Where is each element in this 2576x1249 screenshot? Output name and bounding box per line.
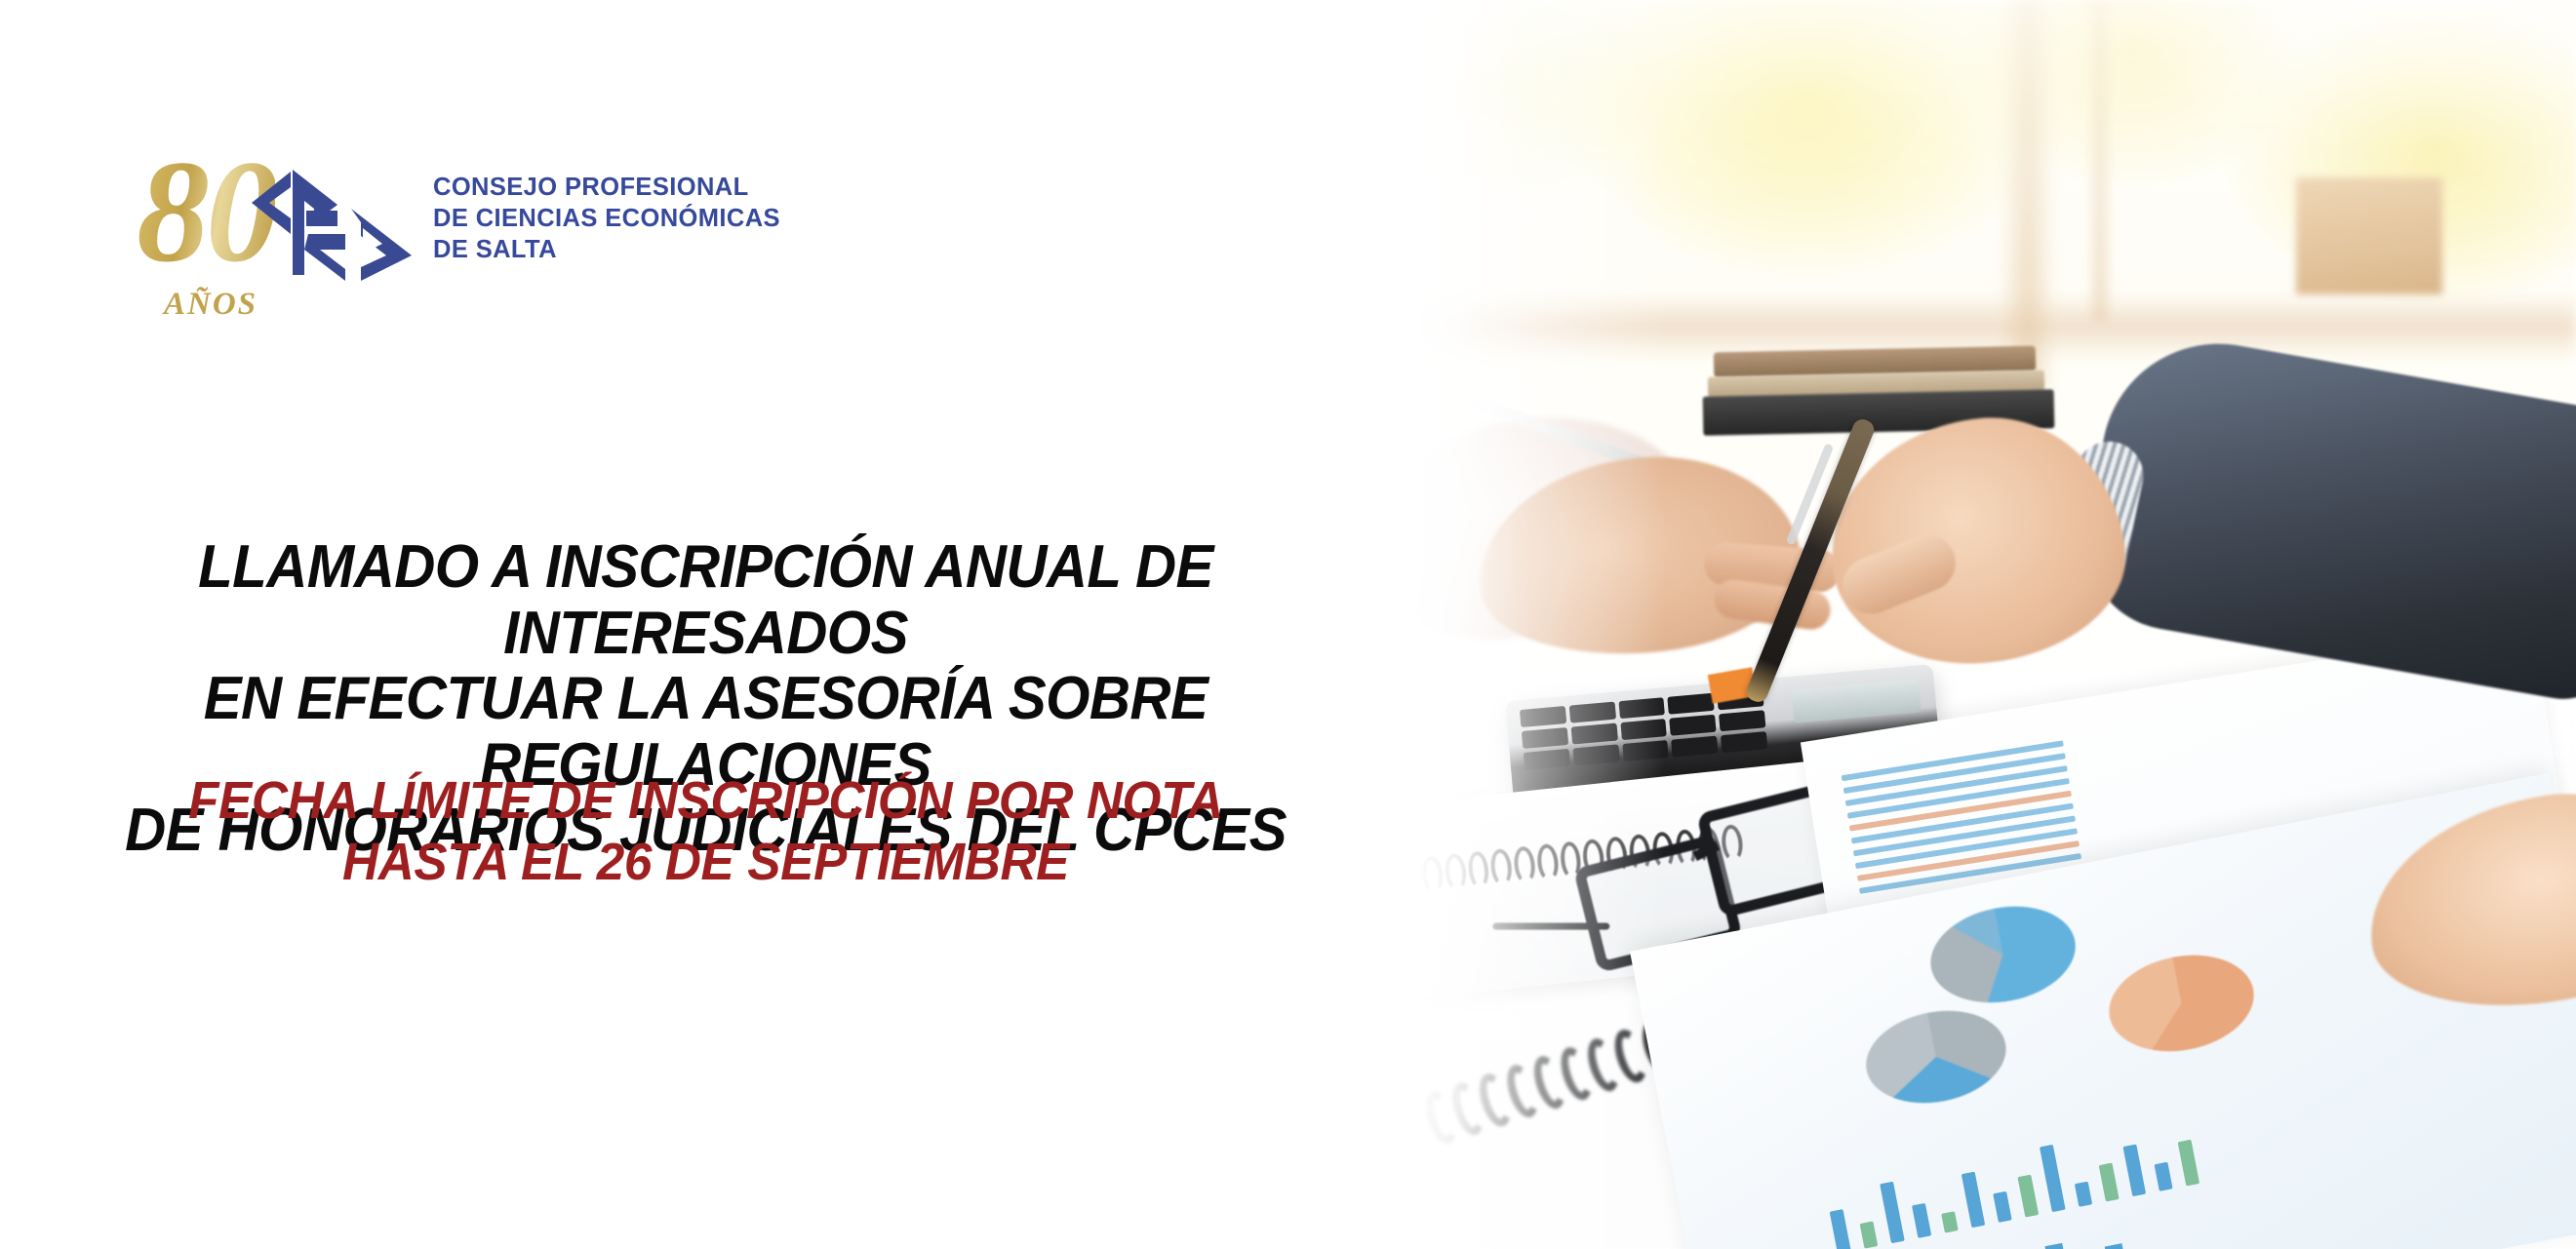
org-line-1: CONSEJO PROFESIONAL xyxy=(433,172,780,203)
org-line-3: DE SALTA xyxy=(433,234,780,265)
deadline-text: FECHA LÍMITE DE INSCRIPCIÓN POR NOTA HAS… xyxy=(35,770,1376,892)
calculator-keys xyxy=(1520,688,1767,770)
anniversary-word: AÑOS xyxy=(164,287,258,323)
cpce-monogram-icon xyxy=(244,166,419,283)
cpces-logo: 80 AÑOS CONSEJO PROFESIONAL DE CIENCIAS … xyxy=(137,144,780,334)
content-panel: 80 AÑOS CONSEJO PROFESIONAL DE CIENCIAS … xyxy=(0,0,1411,1249)
tan-wall-panel xyxy=(2296,177,2442,294)
pie-chart-blue xyxy=(1922,895,2084,1015)
org-line-2: DE CIENCIAS ECONÓMICAS xyxy=(433,203,780,234)
calculator-screen xyxy=(1792,679,1921,722)
organization-name: CONSEJO PROFESIONAL DE CIENCIAS ECONÓMIC… xyxy=(433,172,780,265)
logo-mark: 80 AÑOS xyxy=(137,144,429,334)
eyeglass-temple-arm xyxy=(1492,923,1609,930)
poster-canvas: 80 AÑOS CONSEJO PROFESIONAL DE CIENCIAS … xyxy=(0,0,2576,1249)
pie-chart-orange xyxy=(2101,944,2263,1064)
office-desk-photo xyxy=(1411,0,2576,1249)
pie-chart-grey-blue xyxy=(1858,999,2014,1114)
window-pillar-secondary xyxy=(2087,0,2113,322)
